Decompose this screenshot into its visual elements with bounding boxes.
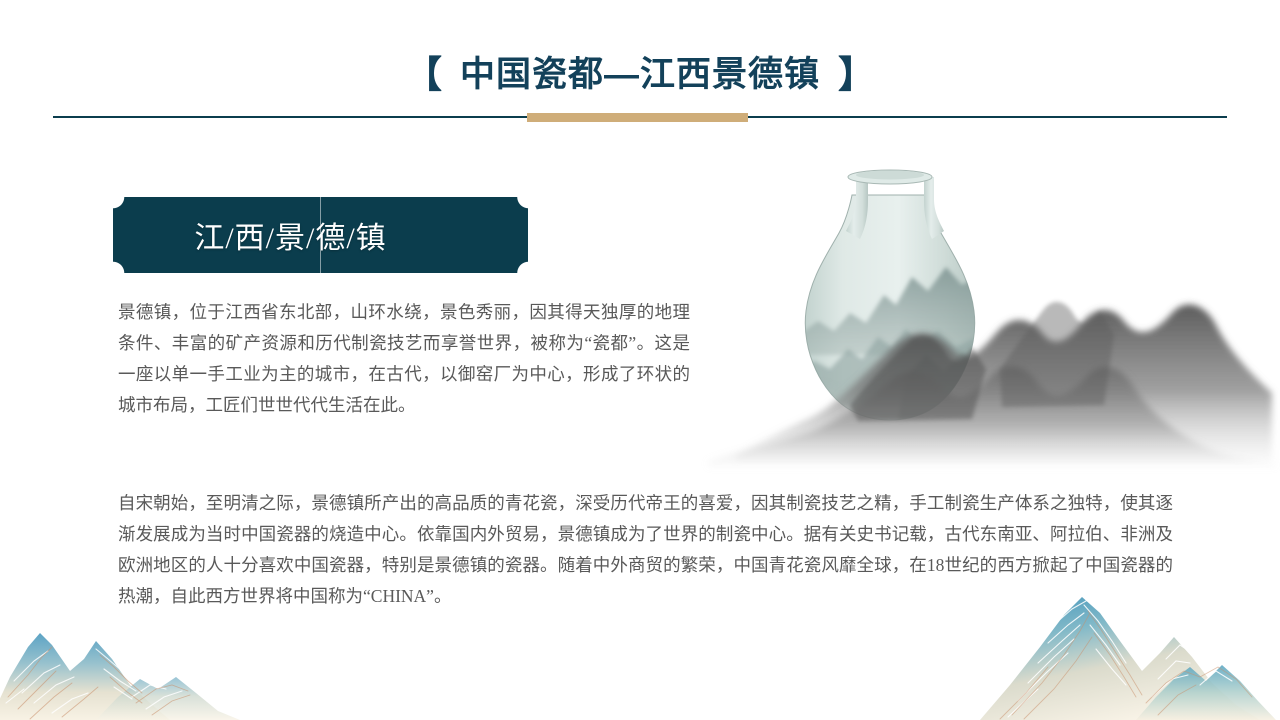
title-text: 中国瓷都—江西景德镇 xyxy=(460,55,820,94)
page-title: 【 中国瓷都—江西景德镇 】 xyxy=(0,44,1280,98)
title-bracket-left: 【 xyxy=(405,54,442,95)
porcelain-vase-illustration xyxy=(700,155,1280,475)
region-badge-label: 江/西/景/德/镇 xyxy=(194,213,386,257)
vase-body xyxy=(805,170,974,420)
vase-ink-painting xyxy=(796,267,984,423)
ink-wash-mountains xyxy=(708,302,1276,467)
title-divider xyxy=(53,113,1227,123)
divider-gold-accent xyxy=(527,113,748,122)
title-bracket-right: 】 xyxy=(838,54,875,95)
region-badge: 江/西/景/德/镇 xyxy=(113,197,528,273)
paragraph-intro: 景德镇，位于江西省东北部，山环水绕，景色秀丽，因其得天独厚的地理条件、丰富的矿产… xyxy=(118,297,690,421)
slide-canvas: 【 中国瓷都—江西景德镇 】 江/西/景/德/镇 景德镇，位于江西省东北部，山环… xyxy=(0,0,1280,720)
paragraph-history: 自宋朝始，至明清之际，景德镇所产出的高品质的青花瓷，深受历代帝王的喜爱，因其制瓷… xyxy=(118,488,1173,612)
